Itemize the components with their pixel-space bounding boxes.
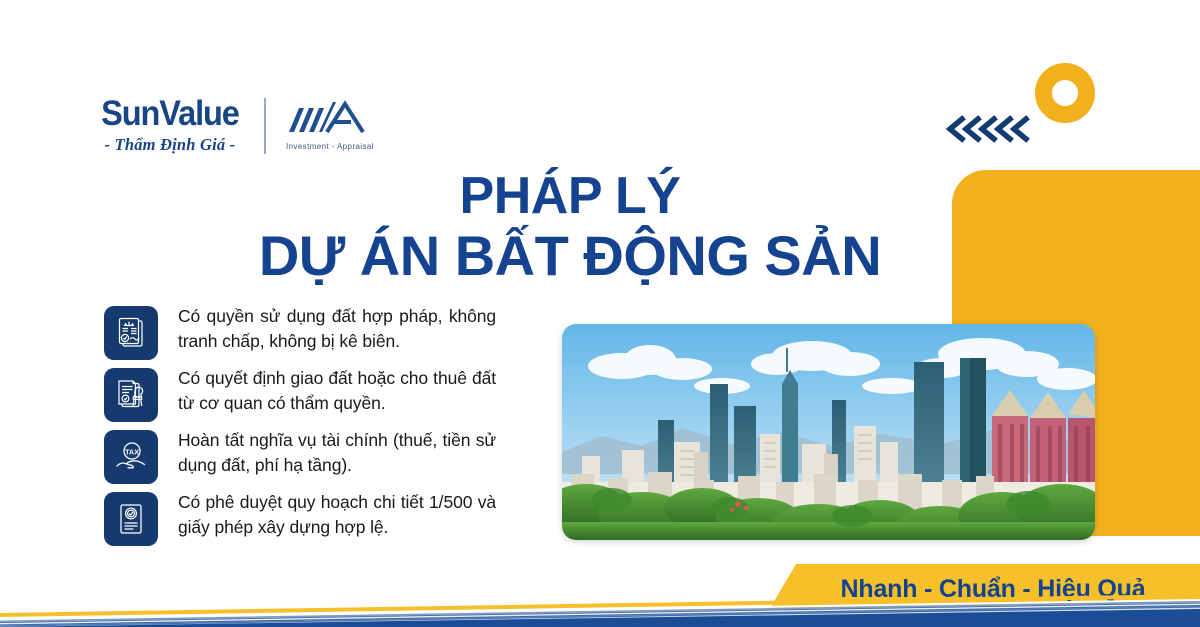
page-title-line-2: DỰ ÁN BẤT ĐỘNG SẢN — [250, 227, 890, 284]
approved-document-seal-icon — [104, 492, 158, 546]
bottom-stripe-decor — [0, 582, 1200, 627]
brand-logo-wordmark: SunValue - Thẩm Định Giá - — [96, 96, 244, 155]
city-skyline-photo — [562, 324, 1095, 540]
mountain-triangle-mark-icon — [287, 100, 373, 139]
chevron-left-icon-group — [944, 114, 1030, 144]
list-item: TAX Hoàn tất nghĩa vụ tài chính (thuế, t… — [104, 428, 524, 484]
page-title-line-1: PHÁP LÝ — [250, 170, 890, 223]
requirements-list: Có quyền sử dụng đất hợp pháp, không tra… — [104, 304, 524, 552]
page-title: PHÁP LÝ DỰ ÁN BẤT ĐỘNG SẢN — [250, 170, 890, 284]
partner-subtitle: Investment - Appraisal — [286, 142, 374, 151]
legal-document-scales-icon — [104, 306, 158, 360]
list-item: Có quyết định giao đất hoặc cho thuê đất… — [104, 366, 524, 422]
list-item-label: Hoàn tất nghĩa vụ tài chính (thuế, tiền … — [178, 428, 496, 478]
document-stamp-icon — [104, 368, 158, 422]
list-item: Có quyền sử dụng đất hợp pháp, không tra… — [104, 304, 524, 360]
logo-divider — [264, 98, 266, 154]
list-item-label: Có phê duyệt quy hoạch chi tiết 1/500 và… — [178, 490, 496, 540]
brand-name: SunValue — [101, 96, 239, 131]
ring-circle-decor — [1035, 63, 1095, 123]
list-item-label: Có quyết định giao đất hoặc cho thuê đất… — [178, 366, 496, 416]
tax-hand-icon: TAX — [104, 430, 158, 484]
partner-logo: Investment - Appraisal — [286, 100, 374, 151]
list-item: Có phê duyệt quy hoạch chi tiết 1/500 và… — [104, 490, 524, 546]
poster-canvas: SunValue - Thẩm Định Giá - — [0, 0, 1200, 627]
brand-logo: SunValue - Thẩm Định Giá - — [96, 96, 374, 155]
list-item-label: Có quyền sử dụng đất hợp pháp, không tra… — [178, 304, 496, 354]
brand-tagline: - Thẩm Định Giá - — [105, 135, 236, 155]
svg-text:TAX: TAX — [125, 447, 139, 456]
